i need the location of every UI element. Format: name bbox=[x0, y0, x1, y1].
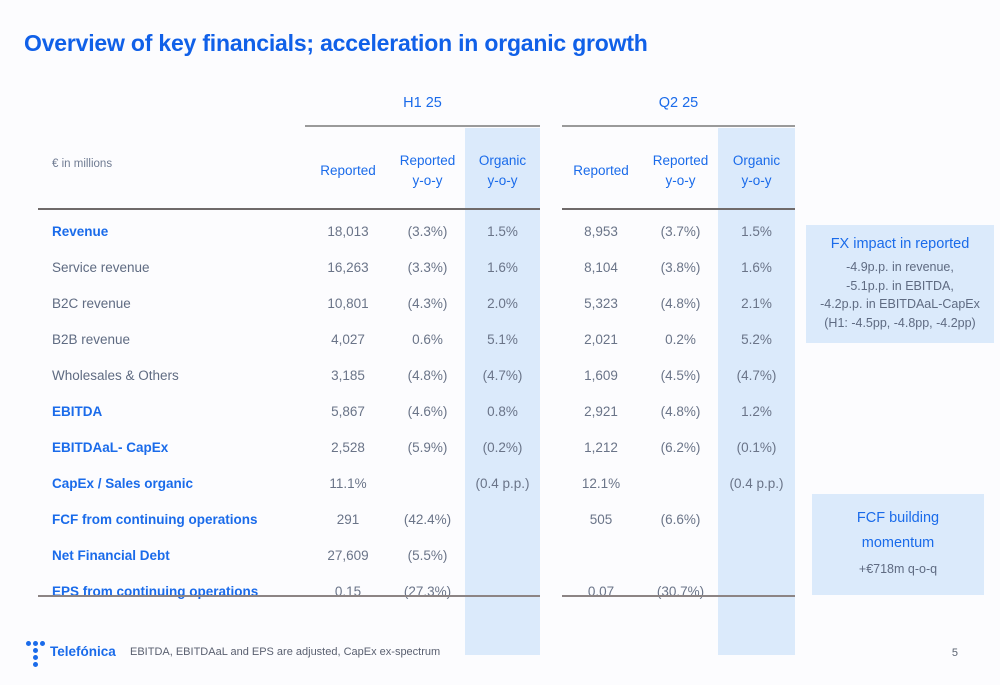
cell-h1-organic-yoy: (0.2%) bbox=[465, 429, 540, 465]
cell-h1-reported-yoy: (5.5%) bbox=[385, 537, 470, 573]
fx-callout-line-1: -4.9p.p. in revenue, bbox=[814, 258, 986, 277]
fx-callout-title: FX impact in reported bbox=[814, 235, 986, 254]
cell-h1-reported-yoy: (3.3%) bbox=[385, 249, 470, 285]
table-row: B2C revenue10,801(4.3%)2.0%5,323(4.8%)2.… bbox=[0, 285, 810, 321]
footer: Telefónica EBITDA, EBITDAaL and EPS are … bbox=[0, 633, 1000, 685]
cell-h1-reported: 4,027 bbox=[303, 321, 393, 357]
cell-q2-organic-yoy bbox=[718, 537, 795, 573]
cell-h1-reported: 27,609 bbox=[303, 537, 393, 573]
row-label: EPS from continuing operations bbox=[52, 573, 258, 609]
cell-q2-reported: 12.1% bbox=[556, 465, 646, 501]
cell-h1-reported: 11.1% bbox=[303, 465, 393, 501]
column-header-q2-reported: Reported bbox=[556, 132, 646, 210]
column-header-line2: y-o-y bbox=[742, 171, 772, 191]
cell-q2-reported bbox=[556, 537, 646, 573]
table-row: Wholesales & Others3,185(4.8%)(4.7%)1,60… bbox=[0, 357, 810, 393]
cell-q2-reported: 8,953 bbox=[556, 213, 646, 249]
page-title: Overview of key financials; acceleration… bbox=[24, 30, 648, 57]
cell-h1-organic-yoy bbox=[465, 537, 540, 573]
cell-q2-organic-yoy: 5.2% bbox=[718, 321, 795, 357]
cell-h1-organic-yoy: 5.1% bbox=[465, 321, 540, 357]
cell-h1-reported: 0.15 bbox=[303, 573, 393, 609]
column-header-line2: y-o-y bbox=[666, 171, 696, 191]
row-label: EBITDAaL- CapEx bbox=[52, 429, 168, 465]
table-body: Revenue18,013(3.3%)1.5%8,953(3.7%)1.5%Se… bbox=[0, 213, 810, 609]
group-header-h1: H1 25 bbox=[305, 95, 540, 111]
table-row: B2B revenue4,0270.6%5.1%2,0210.2%5.2% bbox=[0, 321, 810, 357]
cell-h1-organic-yoy: (0.4 p.p.) bbox=[465, 465, 540, 501]
cell-q2-organic-yoy: (4.7%) bbox=[718, 357, 795, 393]
cell-h1-reported: 16,263 bbox=[303, 249, 393, 285]
cell-q2-reported-yoy: 0.2% bbox=[638, 321, 723, 357]
table-row: Revenue18,013(3.3%)1.5%8,953(3.7%)1.5% bbox=[0, 213, 810, 249]
telefonica-logo-icon bbox=[24, 641, 48, 667]
telefonica-wordmark: Telefónica bbox=[50, 644, 116, 659]
cell-h1-organic-yoy: (4.7%) bbox=[465, 357, 540, 393]
cell-h1-organic-yoy: 2.0% bbox=[465, 285, 540, 321]
group-header-row: H1 25 Q2 25 bbox=[0, 95, 810, 125]
column-header-line1: Organic bbox=[479, 151, 526, 171]
cell-q2-reported: 5,323 bbox=[556, 285, 646, 321]
fx-callout-line-4: (H1: -4.5pp, -4.8pp, -4.2pp) bbox=[814, 314, 986, 333]
cell-q2-organic-yoy bbox=[718, 573, 795, 609]
column-header-line2: y-o-y bbox=[413, 171, 443, 191]
group-header-q2: Q2 25 bbox=[562, 95, 795, 111]
cell-h1-reported-yoy bbox=[385, 465, 470, 501]
cell-h1-reported-yoy: (27.3%) bbox=[385, 573, 470, 609]
table-row: FCF from continuing operations291(42.4%)… bbox=[0, 501, 810, 537]
cell-h1-organic-yoy bbox=[465, 573, 540, 609]
table-row: Service revenue16,263(3.3%)1.6%8,104(3.8… bbox=[0, 249, 810, 285]
cell-h1-reported-yoy: (4.6%) bbox=[385, 393, 470, 429]
cell-q2-reported: 2,021 bbox=[556, 321, 646, 357]
fx-callout-line-3: -4.2p.p. in EBITDAaL-CapEx bbox=[814, 295, 986, 314]
cell-q2-reported-yoy: (6.2%) bbox=[638, 429, 723, 465]
table-row: Net Financial Debt27,609(5.5%) bbox=[0, 537, 810, 573]
cell-h1-reported-yoy: (4.3%) bbox=[385, 285, 470, 321]
group-rule-h1 bbox=[305, 125, 540, 127]
column-header-line1: Organic bbox=[733, 151, 780, 171]
cell-q2-organic-yoy: (0.4 p.p.) bbox=[718, 465, 795, 501]
cell-q2-reported: 0.07 bbox=[556, 573, 646, 609]
table-row: EPS from continuing operations0.15(27.3%… bbox=[0, 573, 810, 609]
row-label: B2C revenue bbox=[52, 285, 131, 321]
cell-q2-reported-yoy: (3.7%) bbox=[638, 213, 723, 249]
fcf-callout-value: +€718m q-o-q bbox=[820, 560, 976, 579]
table-top-rule-h1 bbox=[38, 208, 540, 210]
cell-h1-reported-yoy: (42.4%) bbox=[385, 501, 470, 537]
table-bottom-rule-h1 bbox=[38, 595, 540, 597]
cell-h1-organic-yoy: 0.8% bbox=[465, 393, 540, 429]
cell-q2-reported-yoy: (4.8%) bbox=[638, 393, 723, 429]
group-rule-q2 bbox=[562, 125, 795, 127]
slide: Overview of key financials; acceleration… bbox=[0, 0, 1000, 685]
column-header-h1-reported: Reported bbox=[303, 132, 393, 210]
cell-h1-reported: 18,013 bbox=[303, 213, 393, 249]
cell-h1-reported-yoy: (5.9%) bbox=[385, 429, 470, 465]
column-header-line1: Reported bbox=[320, 161, 376, 181]
column-header-h1-reported-yoy: Reported y-o-y bbox=[385, 132, 470, 210]
row-label: FCF from continuing operations bbox=[52, 501, 258, 537]
column-header-line2: y-o-y bbox=[488, 171, 518, 191]
column-header-q2-organic-yoy: Organic y-o-y bbox=[718, 132, 795, 210]
column-header-line1: Reported bbox=[653, 151, 709, 171]
table-row: EBITDA5,867(4.6%)0.8%2,921(4.8%)1.2% bbox=[0, 393, 810, 429]
fcf-callout-title-line-1: FCF building bbox=[820, 508, 976, 529]
cell-q2-reported-yoy bbox=[638, 465, 723, 501]
cell-h1-reported: 5,867 bbox=[303, 393, 393, 429]
row-label: Net Financial Debt bbox=[52, 537, 170, 573]
cell-q2-reported-yoy: (3.8%) bbox=[638, 249, 723, 285]
row-label: Revenue bbox=[52, 213, 108, 249]
column-header-line1: Reported bbox=[573, 161, 629, 181]
fx-callout-line-2: -5.1p.p. in EBITDA, bbox=[814, 277, 986, 296]
cell-q2-reported: 1,212 bbox=[556, 429, 646, 465]
fcf-momentum-callout: FCF building momentum +€718m q-o-q bbox=[812, 494, 984, 595]
cell-q2-organic-yoy: 1.6% bbox=[718, 249, 795, 285]
cell-h1-reported-yoy: (3.3%) bbox=[385, 213, 470, 249]
cell-h1-reported-yoy: 0.6% bbox=[385, 321, 470, 357]
cell-q2-organic-yoy: 1.5% bbox=[718, 213, 795, 249]
cell-q2-reported: 2,921 bbox=[556, 393, 646, 429]
cell-h1-organic-yoy bbox=[465, 501, 540, 537]
row-label: B2B revenue bbox=[52, 321, 130, 357]
cell-q2-organic-yoy: 2.1% bbox=[718, 285, 795, 321]
column-header-h1-organic-yoy: Organic y-o-y bbox=[465, 132, 540, 210]
cell-h1-reported: 10,801 bbox=[303, 285, 393, 321]
cell-q2-organic-yoy: 1.2% bbox=[718, 393, 795, 429]
cell-h1-reported-yoy: (4.8%) bbox=[385, 357, 470, 393]
table-top-rule-q2 bbox=[562, 208, 795, 210]
cell-q2-reported-yoy: (6.6%) bbox=[638, 501, 723, 537]
fcf-callout-title-line-2: momentum bbox=[820, 533, 976, 554]
column-header-row: Reported Reported y-o-y Organic y-o-y Re… bbox=[0, 132, 810, 210]
financials-table: H1 25 Q2 25 € in millions Reported Repor… bbox=[0, 95, 810, 125]
cell-q2-reported: 8,104 bbox=[556, 249, 646, 285]
footnote: EBITDA, EBITDAaL and EPS are adjusted, C… bbox=[130, 646, 440, 658]
row-label: EBITDA bbox=[52, 393, 102, 429]
cell-q2-reported-yoy bbox=[638, 537, 723, 573]
row-label: CapEx / Sales organic bbox=[52, 465, 193, 501]
page-number: 5 bbox=[952, 647, 958, 659]
table-row: EBITDAaL- CapEx2,528(5.9%)(0.2%)1,212(6.… bbox=[0, 429, 810, 465]
cell-h1-organic-yoy: 1.6% bbox=[465, 249, 540, 285]
cell-h1-reported: 2,528 bbox=[303, 429, 393, 465]
cell-q2-reported-yoy: (30.7%) bbox=[638, 573, 723, 609]
cell-q2-reported: 505 bbox=[556, 501, 646, 537]
row-label: Wholesales & Others bbox=[52, 357, 179, 393]
row-label: Service revenue bbox=[52, 249, 150, 285]
column-header-q2-reported-yoy: Reported y-o-y bbox=[638, 132, 723, 210]
cell-h1-organic-yoy: 1.5% bbox=[465, 213, 540, 249]
cell-h1-reported: 291 bbox=[303, 501, 393, 537]
cell-h1-reported: 3,185 bbox=[303, 357, 393, 393]
table-bottom-rule-q2 bbox=[562, 595, 795, 597]
table-row: CapEx / Sales organic11.1%(0.4 p.p.)12.1… bbox=[0, 465, 810, 501]
cell-q2-organic-yoy bbox=[718, 501, 795, 537]
fx-impact-callout: FX impact in reported -4.9p.p. in revenu… bbox=[806, 225, 994, 343]
cell-q2-reported: 1,609 bbox=[556, 357, 646, 393]
cell-q2-organic-yoy: (0.1%) bbox=[718, 429, 795, 465]
column-header-line1: Reported bbox=[400, 151, 456, 171]
cell-q2-reported-yoy: (4.5%) bbox=[638, 357, 723, 393]
cell-q2-reported-yoy: (4.8%) bbox=[638, 285, 723, 321]
